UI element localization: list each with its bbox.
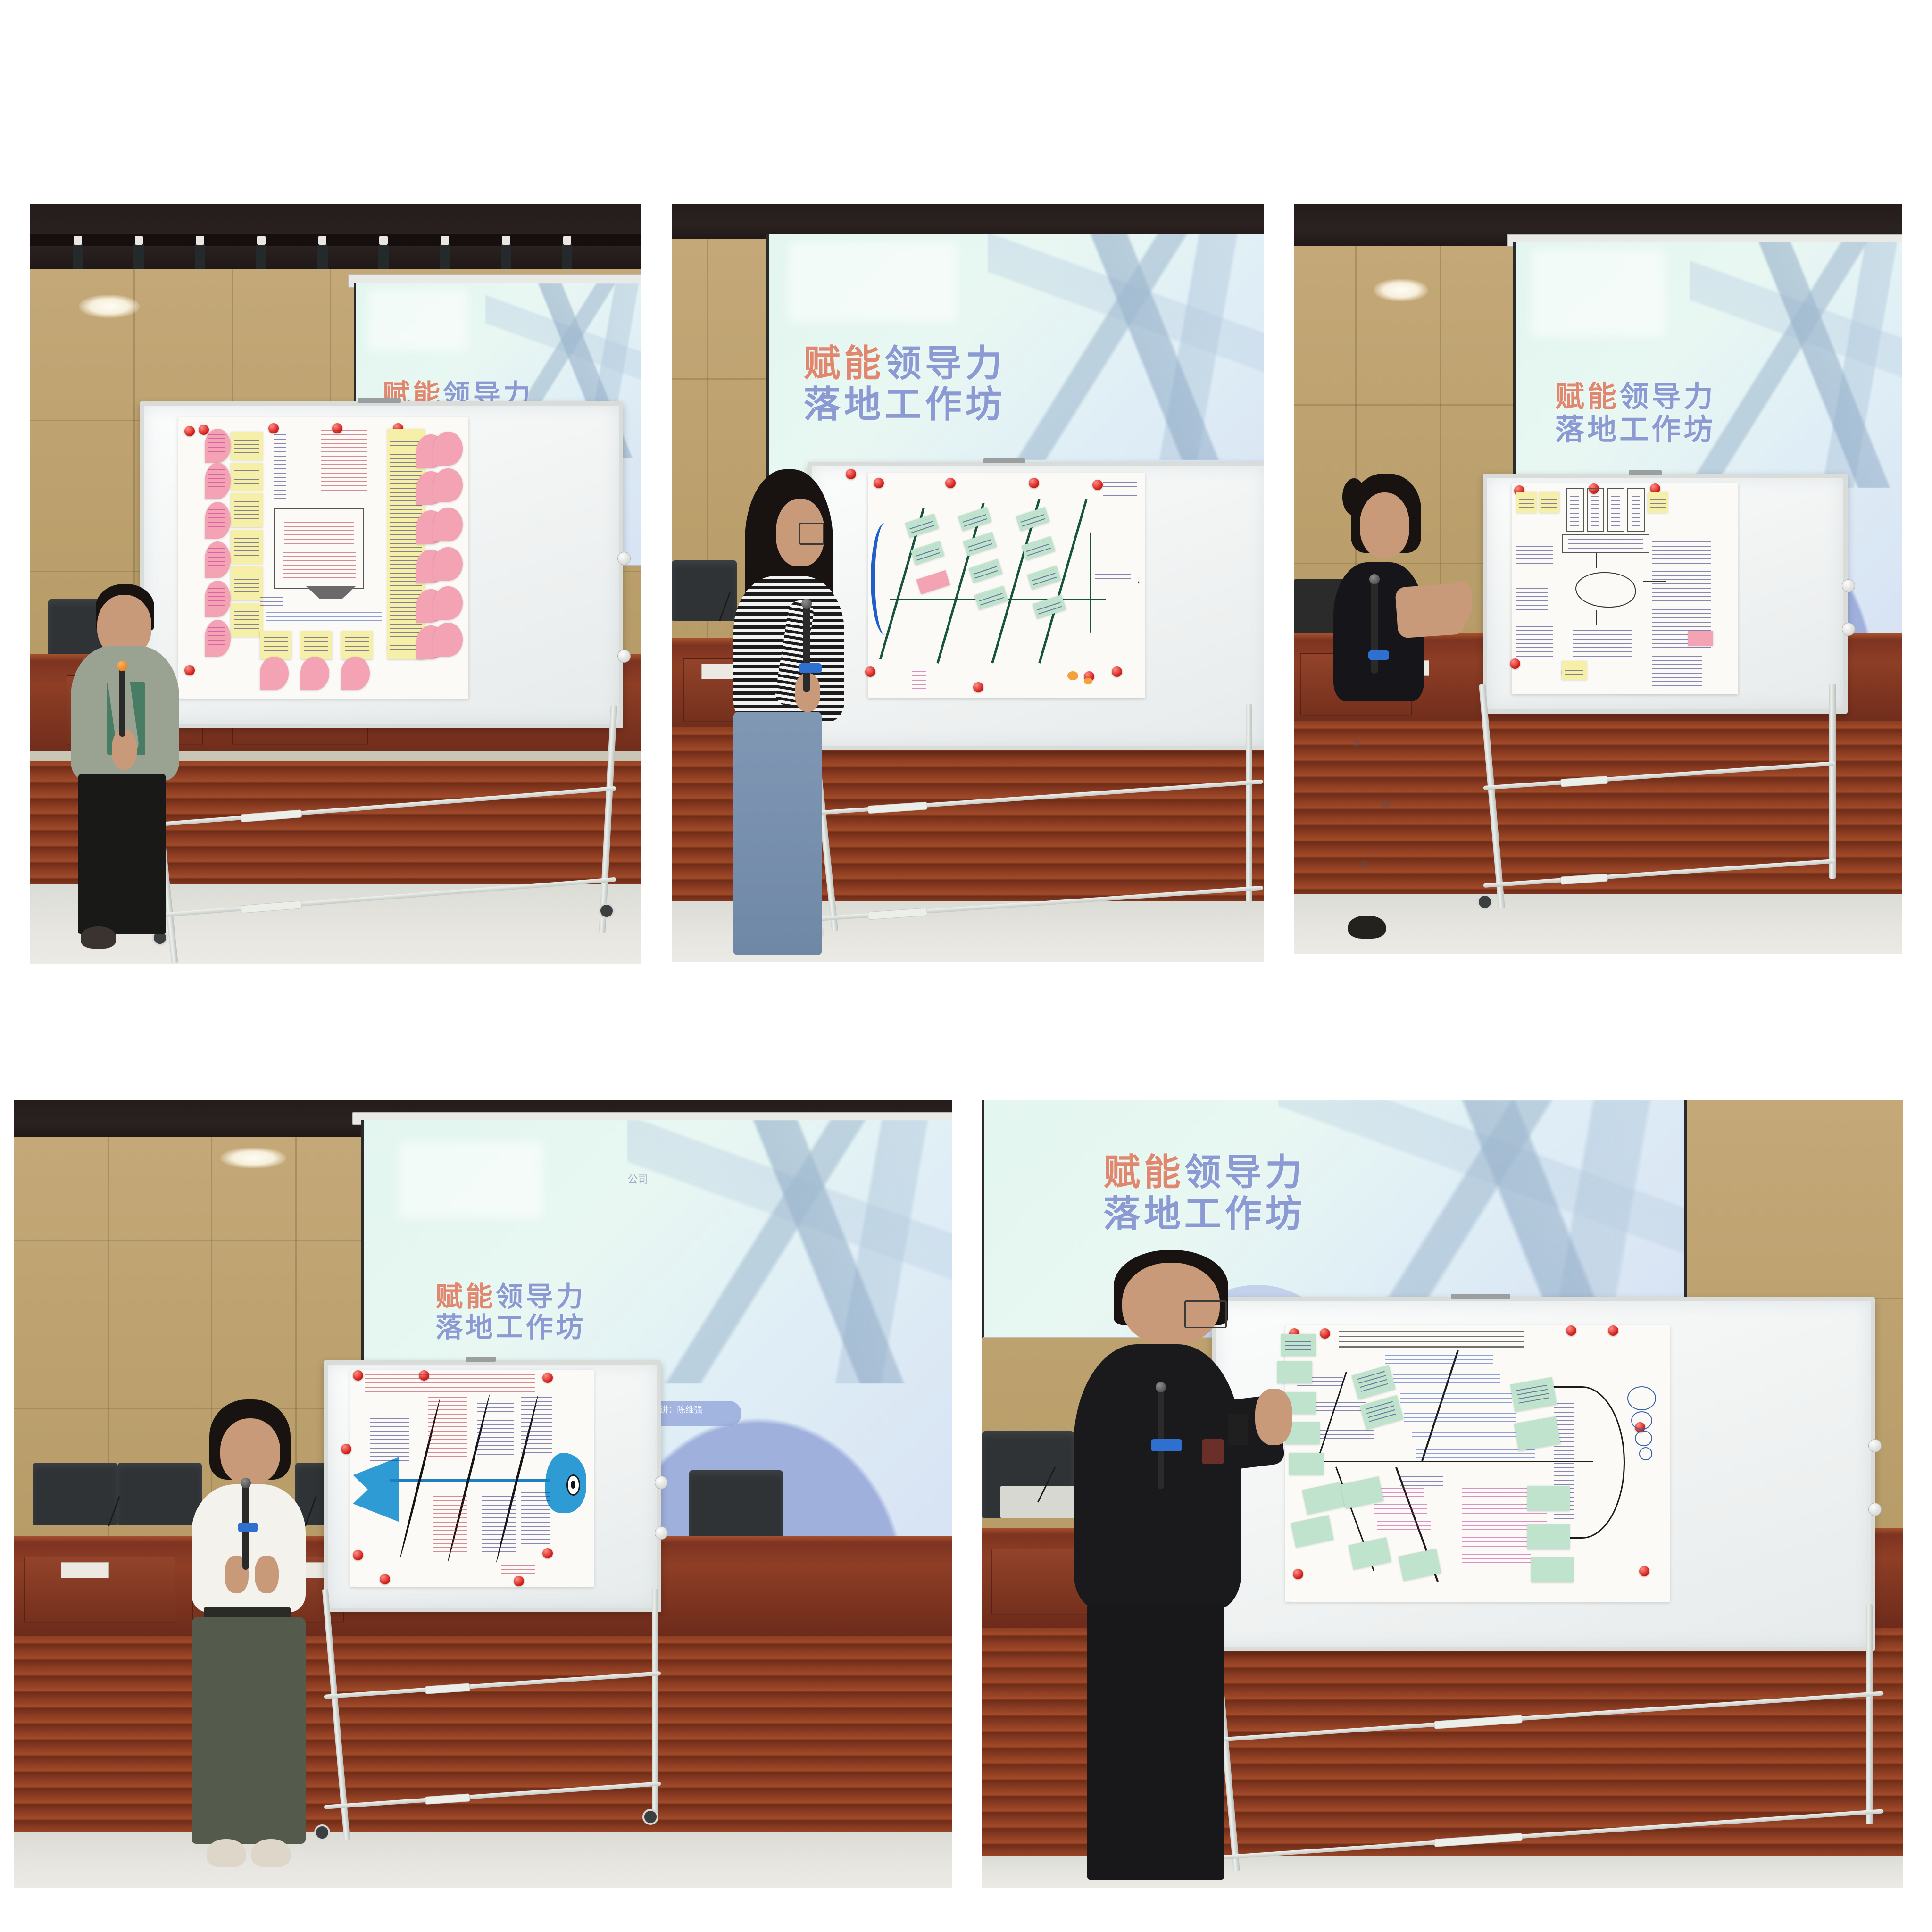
sticky-note-heart[interactable] (205, 620, 231, 656)
slide-title-accent: 赋能 (1103, 1151, 1184, 1194)
hand (255, 1556, 279, 1593)
printed-trousers (1332, 692, 1414, 925)
head (220, 1418, 280, 1484)
presenter-person[interactable] (1065, 1250, 1286, 1880)
ceiling-downlight (220, 1148, 286, 1168)
spine-item (1404, 1411, 1516, 1422)
shoe (81, 926, 116, 948)
magnet[interactable] (973, 682, 983, 692)
sticky-note[interactable] (1539, 492, 1559, 513)
photo-top-center[interactable]: 赋能领导力 落地工作坊 (672, 204, 1264, 962)
handwriting-decoration (912, 671, 926, 689)
handwriting-rib-text (521, 1491, 550, 1543)
poster-group-title (1103, 482, 1136, 496)
photo-bottom-left[interactable]: 公司 赋能领导力 落地工作坊 主讲：陈维强 (14, 1100, 952, 1888)
sticky-note[interactable] (231, 566, 263, 600)
spine-item (1393, 1373, 1500, 1383)
wristwatch (1228, 1414, 1248, 1445)
sticky-note-heart[interactable] (205, 581, 231, 617)
whiteboard-tilt-knob[interactable] (655, 1526, 668, 1540)
whiteboard-leg (1829, 684, 1836, 879)
stage-steps (14, 1636, 952, 1832)
poster-sheet (350, 1370, 593, 1587)
poster-sheet (1512, 483, 1738, 695)
photo-bottom-right[interactable]: 赋能领导力 落地工作坊 (982, 1100, 1903, 1888)
sticky-note[interactable] (974, 586, 1008, 610)
magnet[interactable] (353, 1550, 363, 1560)
whiteboard-tilt-knob[interactable] (1842, 623, 1855, 636)
magnet[interactable] (542, 1548, 553, 1558)
ceiling-downlight (79, 295, 140, 317)
slide-title-rest: 领导力 (1184, 1151, 1306, 1194)
sticky-note[interactable] (1302, 1482, 1345, 1515)
sticky-note[interactable] (1281, 1334, 1316, 1356)
presenter-person[interactable] (174, 1399, 324, 1872)
handwriting-bottom-note (1573, 627, 1632, 657)
sticky-note[interactable] (1027, 566, 1061, 590)
sticky-note[interactable] (910, 541, 944, 565)
magnet[interactable] (1293, 1569, 1303, 1579)
handheld-microphone[interactable] (119, 667, 125, 737)
sticky-note[interactable] (231, 432, 263, 460)
handwriting-left-branch (1516, 623, 1553, 657)
sticky-note-heart[interactable] (433, 432, 462, 465)
hand-pointing (1449, 581, 1472, 623)
slide-title-line2: 落地工作坊 (435, 1311, 586, 1343)
handwriting-right-branch (1652, 538, 1711, 564)
handwriting-side-label (274, 432, 286, 499)
microphone-ring (238, 1523, 258, 1532)
whiteboard-tilt-knob[interactable] (617, 552, 631, 565)
whiteboard[interactable] (324, 1360, 661, 1612)
poster-sheet (868, 473, 1145, 698)
handwriting-rib-text (370, 1418, 409, 1461)
audience-chair (33, 1463, 117, 1526)
shoe (207, 1839, 246, 1867)
arrow-down-icon (1596, 610, 1597, 625)
sticky-note[interactable] (905, 514, 939, 538)
magnet[interactable] (1639, 1566, 1649, 1576)
spine-item (1416, 1447, 1535, 1458)
slide-title-rest: 领导力 (496, 1281, 586, 1313)
magnet[interactable] (1510, 658, 1520, 669)
slide-company-label: 公司 (627, 1171, 648, 1186)
handwriting-left-branch (1516, 542, 1553, 564)
slide-title: 赋能领导力 落地工作坊 (435, 1282, 586, 1343)
sticky-note[interactable] (1562, 661, 1587, 680)
fishbone-tail (353, 1457, 399, 1522)
magnet[interactable] (380, 1574, 390, 1584)
magnet[interactable] (184, 426, 195, 436)
mindmap-node (1566, 488, 1584, 532)
presenter-person[interactable] (60, 584, 207, 949)
slide-title-rest: 领导力 (884, 342, 1006, 385)
handwriting-right-branch (1652, 652, 1702, 686)
sticky-note[interactable] (1527, 1486, 1570, 1511)
magnet[interactable] (514, 1576, 524, 1586)
sticky-note[interactable] (1289, 1453, 1324, 1475)
sticky-note[interactable] (231, 463, 263, 491)
magnet[interactable] (1029, 478, 1039, 488)
mindmap-node (1607, 488, 1625, 532)
spine-item (1412, 1431, 1524, 1441)
photo-collage: 赋能领导力 落地工作坊 (0, 0, 1932, 1932)
sticky-note-heart[interactable] (300, 657, 329, 690)
whiteboard[interactable] (808, 462, 1264, 750)
handheld-microphone[interactable] (1371, 581, 1378, 674)
magnet[interactable] (341, 1444, 351, 1454)
handwriting-rib-text (477, 1399, 513, 1455)
magnet[interactable] (945, 478, 956, 488)
whiteboard[interactable] (140, 401, 623, 728)
magnet[interactable] (353, 1370, 363, 1381)
sticky-note[interactable] (1516, 492, 1537, 513)
whiteboard-tilt-knob[interactable] (1868, 1439, 1882, 1452)
whiteboard[interactable] (1483, 474, 1848, 714)
sticky-note[interactable] (958, 507, 991, 532)
slide-title: 赋能领导力 落地工作坊 (1103, 1152, 1306, 1235)
hand-pointing (1255, 1389, 1293, 1445)
magnet[interactable] (874, 478, 884, 488)
sticky-note[interactable] (1531, 1557, 1574, 1582)
magnet[interactable] (542, 1373, 553, 1383)
sticky-note[interactable] (969, 559, 1003, 583)
trousers (78, 774, 166, 934)
sticky-note[interactable] (231, 603, 263, 637)
fishbone-rib-upper (1421, 1350, 1459, 1461)
poster-title-handwriting (365, 1374, 535, 1392)
sticky-note[interactable] (963, 532, 997, 556)
black-trousers (1087, 1603, 1224, 1880)
shoe (251, 1839, 291, 1867)
sticky-note[interactable] (231, 530, 263, 564)
sticky-note-heart[interactable] (205, 502, 231, 538)
sticky-note-heart[interactable] (433, 586, 462, 620)
thought-bubble-icon (1635, 1431, 1652, 1446)
magnet[interactable] (1566, 1325, 1576, 1336)
slide-title-accent: 赋能 (804, 342, 885, 385)
glasses (1184, 1300, 1227, 1328)
magnet[interactable] (199, 425, 209, 435)
bottom-item (1462, 1552, 1532, 1563)
mindmap-node (1627, 488, 1645, 532)
whiteboard-caster (1477, 894, 1493, 910)
thought-bubble-icon (1627, 1386, 1656, 1410)
jeans (733, 712, 822, 955)
sticky-note[interactable] (1359, 1395, 1403, 1430)
whiteboard-tilt-knob[interactable] (655, 1476, 668, 1489)
handwriting-rib-text (521, 1396, 552, 1452)
microphone-ring (1368, 650, 1389, 660)
triple-label (1400, 1475, 1443, 1486)
thought-bubble-icon (1639, 1447, 1652, 1460)
whiteboard[interactable] (1212, 1297, 1875, 1651)
spine-item (1385, 1353, 1493, 1364)
handwriting-label (260, 595, 283, 606)
whiteboard-leg (1866, 1604, 1873, 1824)
handwriting-section-1 (321, 429, 367, 491)
handwriting-signature (501, 1561, 535, 1574)
whiteboard-leg (1246, 704, 1252, 901)
orange-dot-decoration (1084, 678, 1092, 684)
whiteboard-clip (466, 1357, 496, 1362)
glasses (799, 523, 824, 545)
sticky-note[interactable] (916, 570, 950, 594)
name-plate (61, 1562, 108, 1578)
magnet[interactable] (1320, 1328, 1330, 1339)
whiteboard-clip (983, 458, 1025, 463)
head (1360, 492, 1409, 558)
magnet[interactable] (1112, 666, 1122, 677)
sticky-note[interactable] (1688, 631, 1713, 646)
sticky-note-heart[interactable] (433, 547, 462, 581)
whiteboard-caster (642, 1809, 658, 1825)
mindmap-node (1587, 488, 1605, 532)
ceiling-downlight (1374, 279, 1428, 301)
poster-sheet (178, 417, 468, 699)
sticky-note-heart[interactable] (205, 429, 231, 462)
fish-eye-icon (566, 1474, 580, 1496)
triple-item (1377, 1519, 1431, 1530)
mindmap-cloud (1575, 572, 1636, 608)
handheld-microphone[interactable] (803, 605, 810, 692)
sticky-note[interactable] (300, 631, 333, 659)
slide-title-rest: 领导力 (1619, 379, 1716, 414)
stage-floor (14, 1832, 952, 1888)
slide-title-accent: 赋能 (1555, 379, 1619, 414)
left-branch-item (1312, 1428, 1374, 1439)
handwriting-rib-text (433, 1496, 467, 1552)
slide-title-line2: 落地工作坊 (1555, 412, 1716, 447)
sticky-note[interactable] (1016, 507, 1049, 532)
sticky-note-heart[interactable] (205, 541, 231, 578)
fishbone-head (1539, 1386, 1625, 1538)
photo-top-left[interactable]: 赋能领导力 落地工作坊 (30, 204, 641, 964)
poster-title-box (274, 508, 364, 589)
poster-easel-foot (306, 586, 356, 616)
presenter-person[interactable] (1324, 474, 1470, 939)
microphone-ring (799, 663, 822, 673)
sticky-note[interactable] (1648, 492, 1668, 513)
mindmap-center-title (1562, 534, 1649, 553)
handwriting-section-2 (266, 612, 382, 626)
conference-room-scene: 赋能领导力 落地工作坊 (30, 204, 641, 964)
whiteboard-clip (358, 398, 401, 403)
whiteboard-clip (1451, 1294, 1510, 1299)
presenter-person[interactable] (725, 469, 867, 955)
handwriting-rib-text (482, 1496, 516, 1552)
slide-title-accent: 赋能 (435, 1281, 496, 1313)
slide-title: 赋能领导力 落地工作坊 (804, 343, 1006, 426)
poster-title-handwriting (1339, 1328, 1524, 1348)
handwriting-right-branch (1652, 568, 1711, 602)
sticky-note[interactable] (260, 631, 292, 659)
slide-title-line2: 落地工作坊 (1103, 1193, 1306, 1235)
wrist-beads (1202, 1439, 1224, 1464)
fishbone-head (545, 1453, 587, 1514)
sticky-note[interactable] (1033, 595, 1066, 619)
whiteboard-clip (1629, 470, 1662, 475)
poster-sheet (1285, 1325, 1670, 1602)
sticky-note[interactable] (1527, 1524, 1570, 1549)
sticky-note[interactable] (1352, 1365, 1396, 1399)
sticky-note[interactable] (231, 493, 263, 527)
sticky-note-heart[interactable] (433, 623, 462, 656)
sticky-note[interactable] (341, 631, 373, 659)
slide-title: 赋能领导力 落地工作坊 (1555, 380, 1716, 446)
sticky-note-heart[interactable] (205, 463, 231, 499)
magnet[interactable] (1092, 480, 1103, 490)
shoe (1348, 916, 1386, 939)
photo-top-right[interactable]: 赋能领导力 落地工作坊 (1294, 204, 1902, 954)
ceiling-track-rail (30, 234, 641, 246)
sticky-note-heart[interactable] (341, 657, 370, 690)
long-skirt (192, 1617, 306, 1844)
triple-item (1374, 1502, 1427, 1513)
sticky-note-heart[interactable] (433, 508, 462, 541)
sticky-note-heart[interactable] (260, 657, 289, 690)
handwriting-rib-text (428, 1396, 467, 1457)
slide-title-line2: 落地工作坊 (804, 383, 1006, 426)
orange-dot-decoration (1067, 671, 1078, 680)
arrow-up-icon (1596, 553, 1597, 567)
spine-item (1400, 1392, 1512, 1403)
thought-bubble-icon (1631, 1411, 1652, 1430)
microphone-ring (1151, 1439, 1182, 1452)
sticky-note-heart[interactable] (433, 468, 462, 502)
magnet[interactable] (1608, 1325, 1618, 1336)
fish-head-label (1095, 572, 1131, 583)
sticky-note[interactable] (1291, 1515, 1333, 1548)
fishbone-tail (871, 523, 900, 635)
sticky-note[interactable] (1349, 1537, 1391, 1570)
handwriting-left-branch (1516, 585, 1548, 610)
